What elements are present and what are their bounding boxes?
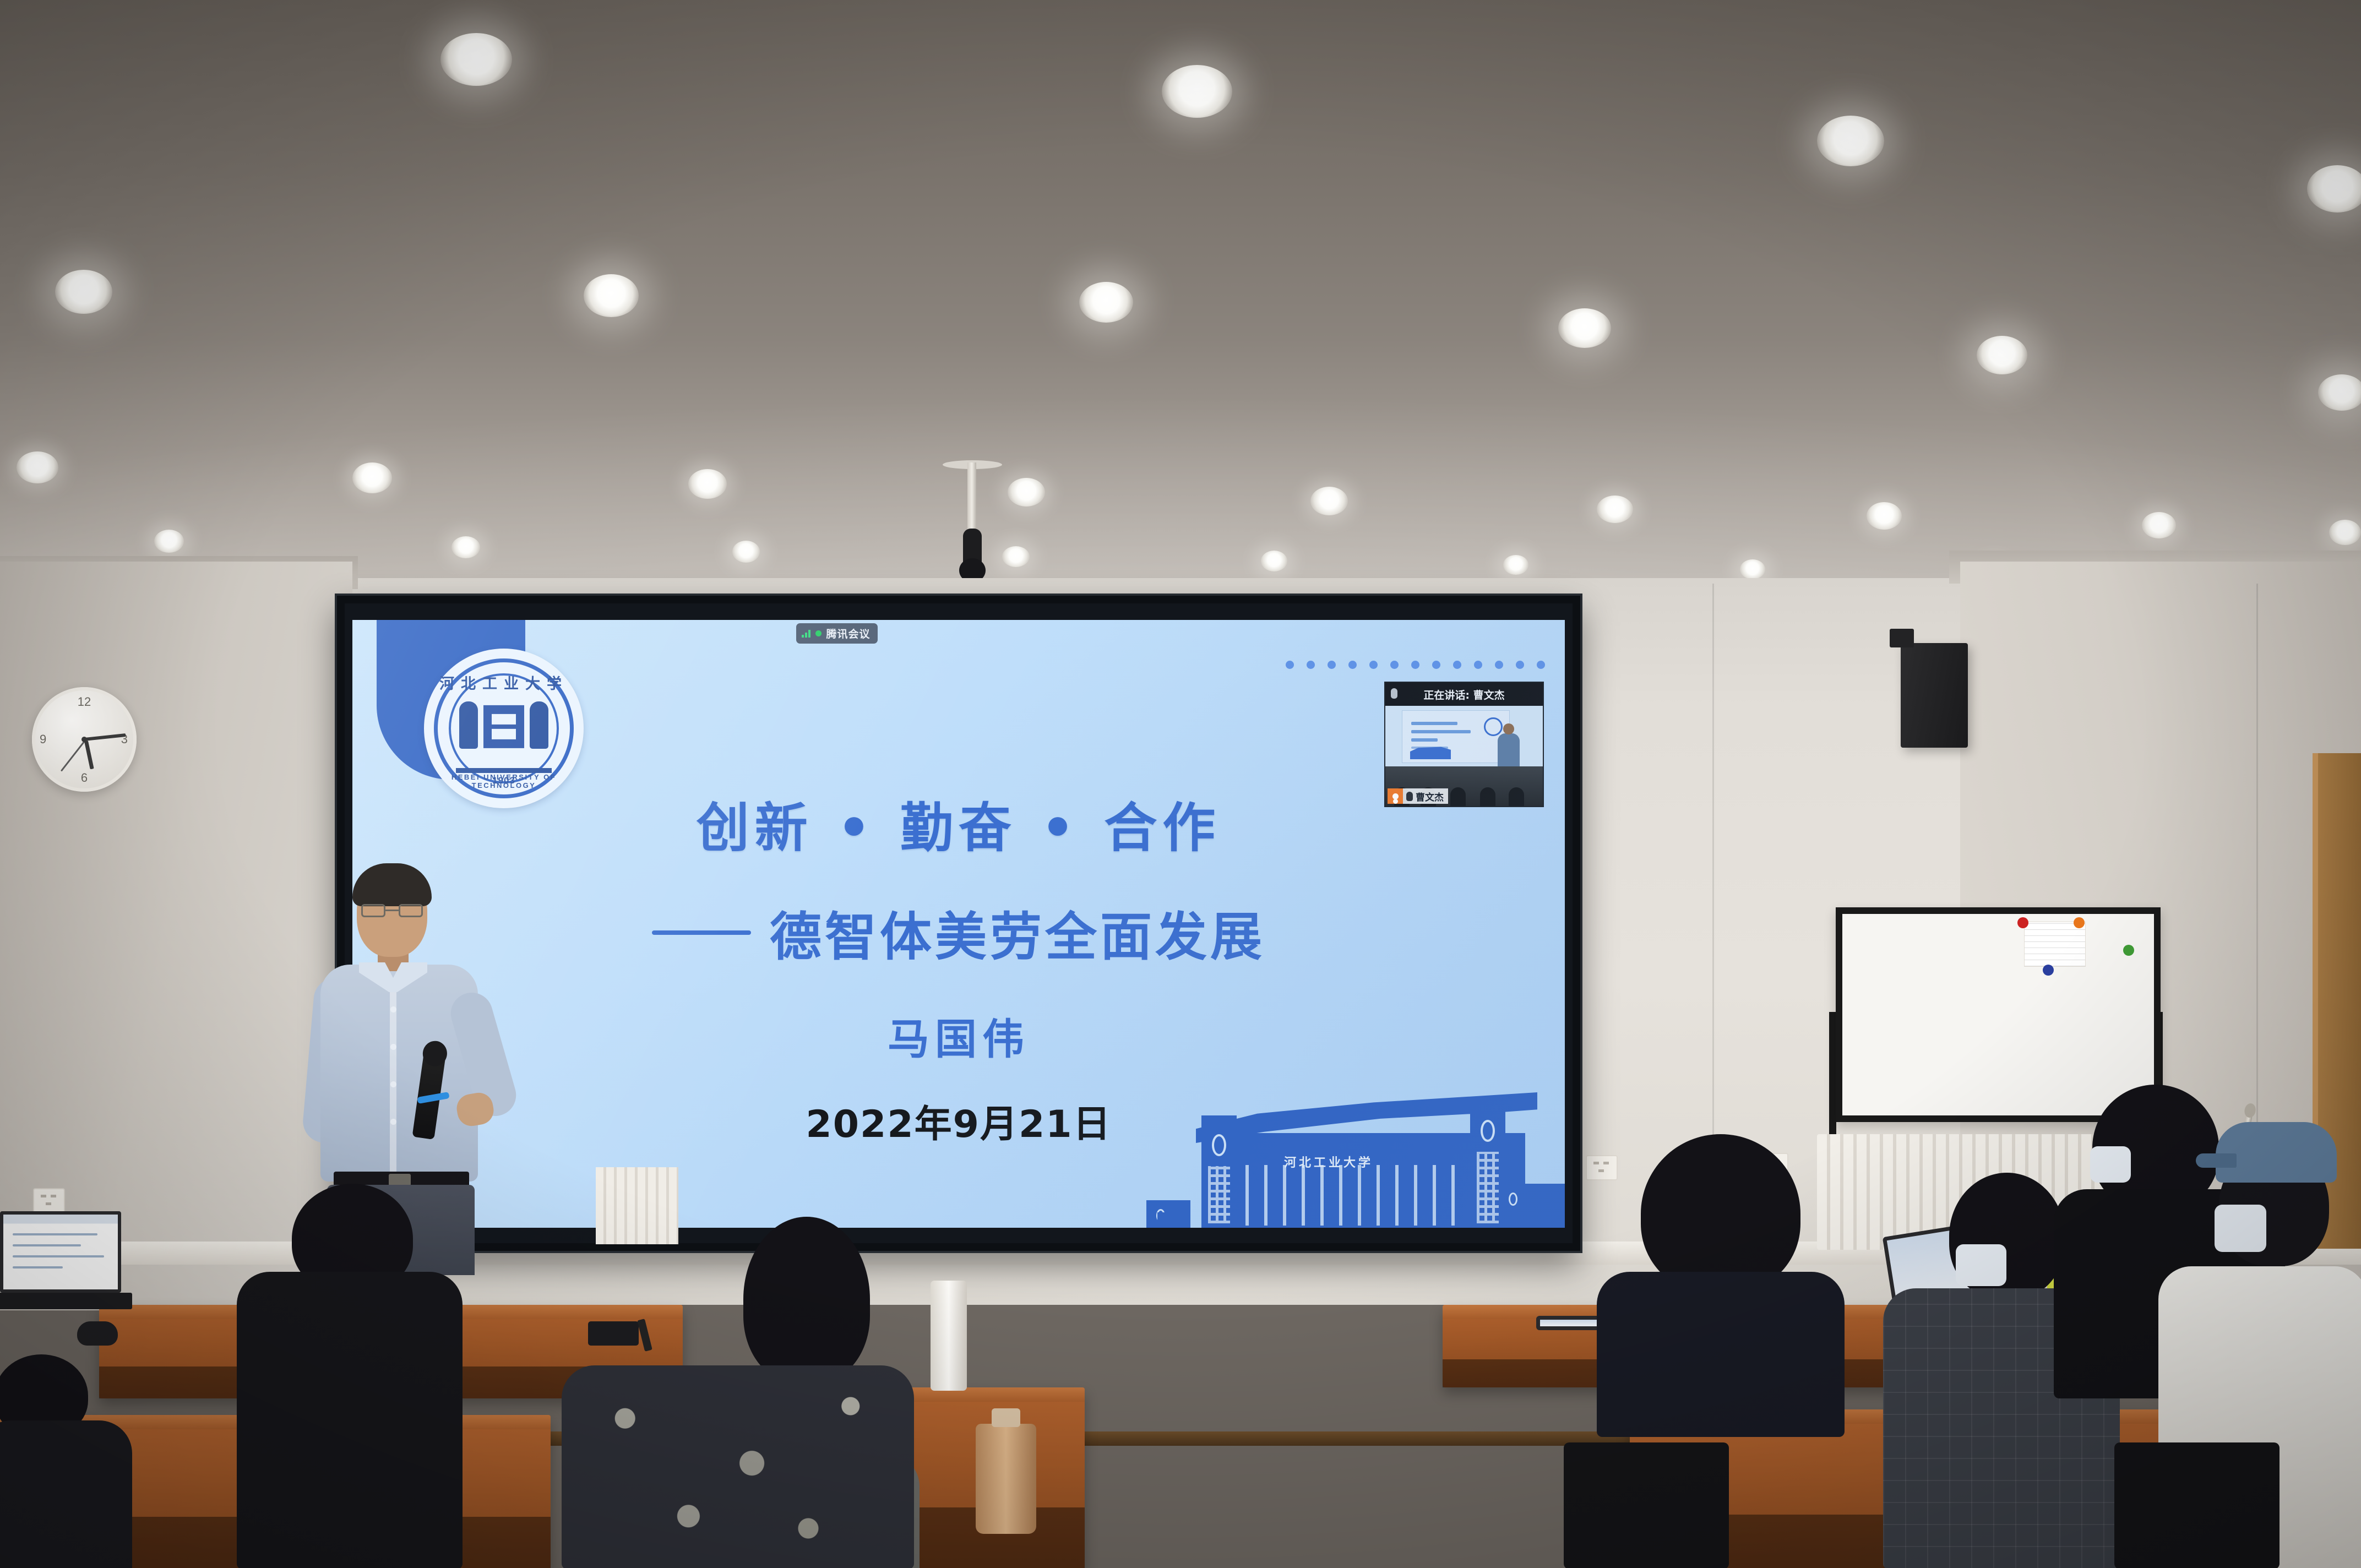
ceiling-downlight <box>451 536 480 558</box>
ceiling-downlight <box>1977 336 2027 374</box>
baseball-cap-icon <box>2216 1122 2337 1183</box>
presenter-shirt <box>320 965 478 1182</box>
beverage-cup[interactable] <box>976 1424 1036 1534</box>
clock-minute-hand <box>84 733 126 741</box>
gate-side-building-small <box>1157 1212 1182 1228</box>
audience-person <box>1580 1134 1856 1420</box>
ceiling-downlight <box>1817 116 1884 166</box>
green-status-dot-icon <box>815 630 822 636</box>
presenter-shirt-button <box>390 1006 396 1012</box>
clock-numeral: 6 <box>81 771 88 785</box>
laptop-keyboard-base[interactable] <box>0 1293 132 1309</box>
ceiling-downlight <box>2329 520 2361 545</box>
nested-seal-icon <box>1484 717 1503 736</box>
ceiling-downlight <box>154 530 184 553</box>
microphone-icon <box>1391 688 1397 699</box>
ceiling-downlight <box>1867 502 1902 530</box>
smartphone-on-desk[interactable] <box>588 1321 639 1346</box>
eyeglasses-icon <box>361 904 423 917</box>
gate-pillar-left <box>1201 1115 1237 1228</box>
ceiling-downlight <box>1162 65 1232 118</box>
whiteboard-magnet[interactable] <box>2043 965 2054 976</box>
ceiling-downlight <box>2318 374 2361 411</box>
ceiling-downlight <box>17 451 58 483</box>
ceiling-downlight <box>584 274 639 317</box>
whiteboard-paper-note <box>2024 922 2086 967</box>
seal-chinese-name: 河北工业大学 <box>424 672 584 693</box>
person-body <box>0 1420 132 1568</box>
video-thumbnail-titlebar: 正在讲话: 曹文杰 <box>1385 683 1543 706</box>
ceiling-downlight <box>1002 546 1030 567</box>
laptop-left[interactable] <box>0 1211 127 1321</box>
face-mask-icon <box>2215 1205 2266 1252</box>
slide-title: 创新 • 勤奋 • 合作 <box>352 785 1565 862</box>
clock-numeral: 9 <box>40 732 46 747</box>
seal-base-line <box>456 768 552 773</box>
ceiling-downlight <box>440 33 512 86</box>
laptop-screen <box>0 1211 121 1293</box>
ceiling-downlight <box>1261 551 1287 571</box>
presenter-shirt-button <box>390 1044 396 1050</box>
seal-figure-right <box>530 701 548 749</box>
presenter-shirt-button <box>390 1081 396 1087</box>
wall-clock: 12 3 6 9 <box>32 687 137 792</box>
ceiling-downlight <box>732 541 760 563</box>
ceiling-downlight <box>1740 559 1765 579</box>
signal-bars-icon <box>802 629 810 638</box>
presentation-slide: 河北工业大学 1903 HEBEI UNIVERSITY OF TECHNOLO… <box>352 620 1565 1228</box>
clock-numeral: 12 <box>78 695 91 709</box>
slide-presenter-name: 马国伟 <box>352 1005 1565 1066</box>
campus-gate-illustration: 河北工业大学 <box>1146 1082 1565 1228</box>
gate-vertical-bars <box>1245 1165 1460 1226</box>
seal-gong-emblem <box>483 705 524 748</box>
presenter-hair <box>352 863 432 906</box>
meeting-app-name: 腾讯会议 <box>826 626 871 641</box>
ceiling-downlight <box>1310 487 1348 515</box>
slide-subtitle-row: 德智体美劳全面发展 <box>352 895 1565 970</box>
wall-speaker-icon <box>1901 643 1968 748</box>
chair[interactable] <box>1564 1442 1729 1568</box>
person-head <box>743 1217 870 1382</box>
clock-second-hand <box>61 741 85 772</box>
audience-person <box>231 1184 463 1568</box>
computer-mouse[interactable] <box>77 1321 118 1346</box>
presenter-shirt-button <box>390 1119 396 1125</box>
radiator-center <box>596 1167 678 1244</box>
wall-outlet <box>33 1188 65 1213</box>
lecture-hall-photo: 12 3 6 9 河北工业大学 1903 HEBEI UNIVE <box>0 0 2361 1568</box>
gate-university-name: 河北工业大学 <box>1284 1153 1373 1170</box>
remote-presenter-figure <box>1498 733 1520 769</box>
slide-subtitle: 德智体美劳全面发展 <box>770 895 1265 970</box>
tencent-meeting-badge: 腾讯会议 <box>796 623 878 644</box>
person-body <box>562 1365 914 1568</box>
water-tumbler[interactable] <box>931 1281 967 1391</box>
whiteboard-magnet[interactable] <box>2017 917 2028 928</box>
decorative-dot-row <box>1286 661 1545 669</box>
speaking-now-label: 正在讲话: 曹文杰 <box>1423 687 1504 702</box>
ceiling-downlight <box>2142 512 2176 538</box>
whiteboard-magnet[interactable] <box>2123 945 2134 956</box>
face-mask-icon <box>1956 1244 2006 1286</box>
clock-center-pin <box>81 737 87 742</box>
ceiling-downlight <box>1079 282 1133 323</box>
ceiling-downlight <box>1558 308 1611 348</box>
person-body <box>1597 1272 1845 1437</box>
university-seal-logo: 河北工业大学 1903 HEBEI UNIVERSITY OF TECHNOLO… <box>424 649 584 808</box>
seal-figure-left <box>459 701 478 749</box>
chair[interactable] <box>2114 1442 2280 1568</box>
audience-person <box>0 1354 127 1568</box>
whiteboard-magnet[interactable] <box>2074 917 2085 928</box>
projection-screen[interactable]: 河北工业大学 1903 HEBEI UNIVERSITY OF TECHNOLO… <box>337 596 1580 1251</box>
ceiling-downlight <box>1008 478 1045 507</box>
ceiling-downlight <box>55 270 112 314</box>
face-mask-icon <box>2090 1146 2131 1183</box>
ceiling-downlight <box>688 469 727 499</box>
person-body <box>237 1272 463 1568</box>
person-head <box>1641 1134 1800 1294</box>
gate-side-building-right <box>1499 1184 1565 1228</box>
subtitle-dash <box>652 930 751 935</box>
ceiling <box>0 0 2361 617</box>
ceiling-downlight <box>1503 555 1528 575</box>
nested-slide-preview <box>1402 710 1510 763</box>
ceiling-downlight <box>1597 496 1633 523</box>
clock-hour-hand <box>84 741 94 769</box>
audience-person <box>562 1365 914 1568</box>
ceiling-downlight <box>352 462 392 493</box>
